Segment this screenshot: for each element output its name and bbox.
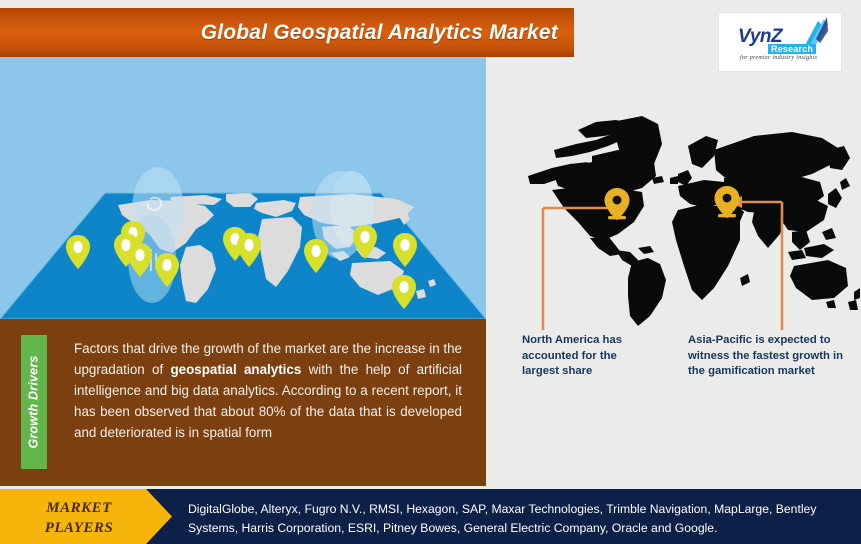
regional-map-area: North America has accounted for the larg… xyxy=(492,90,861,390)
market-players-list: DigitalGlobe, Alteryx, Fugro N.V., RMSI,… xyxy=(188,500,848,538)
drivers-text-bold: geospatial analytics xyxy=(170,362,301,377)
logo-inner: VynZ Research for premier industry insig… xyxy=(724,17,836,67)
market-players-line1: MARKET xyxy=(14,498,144,518)
market-players-footer: MARKET PLAYERS DigitalGlobe, Alteryx, Fu… xyxy=(0,489,861,544)
logo-subword: Research xyxy=(768,44,816,54)
callout-ap-bold1: Asia-Pacific xyxy=(688,334,752,346)
brand-logo[interactable]: VynZ Research for premier industry insig… xyxy=(718,12,842,72)
growth-drivers-tab-label: Growth Drivers xyxy=(27,355,41,448)
page-title: Global Geospatial Analytics Market xyxy=(201,21,558,45)
illustration-panel xyxy=(0,57,486,319)
world-map-3d-illustration xyxy=(0,57,486,319)
market-players-label: MARKET PLAYERS xyxy=(14,498,144,539)
growth-drivers-tab: Growth Drivers xyxy=(21,335,47,469)
callout-asia-pacific: Asia-Pacific is expected to witness the … xyxy=(688,333,855,380)
world-map-silhouette xyxy=(492,90,861,330)
callout-na-rest: share xyxy=(559,365,592,377)
callout-ap-bold2: gamification market xyxy=(708,365,815,377)
infographic-root: Global Geospatial Analytics Market VynZ … xyxy=(0,0,861,544)
market-players-line2: PLAYERS xyxy=(14,518,144,538)
header-bar: Global Geospatial Analytics Market xyxy=(0,8,574,57)
growth-drivers-text: Factors that drive the growth of the mar… xyxy=(74,338,462,443)
logo-tagline: for premier industry insights xyxy=(740,55,817,61)
growth-drivers-panel: Growth Drivers Factors that drive the gr… xyxy=(0,319,486,486)
callout-north-america: North America has accounted for the larg… xyxy=(522,333,654,380)
